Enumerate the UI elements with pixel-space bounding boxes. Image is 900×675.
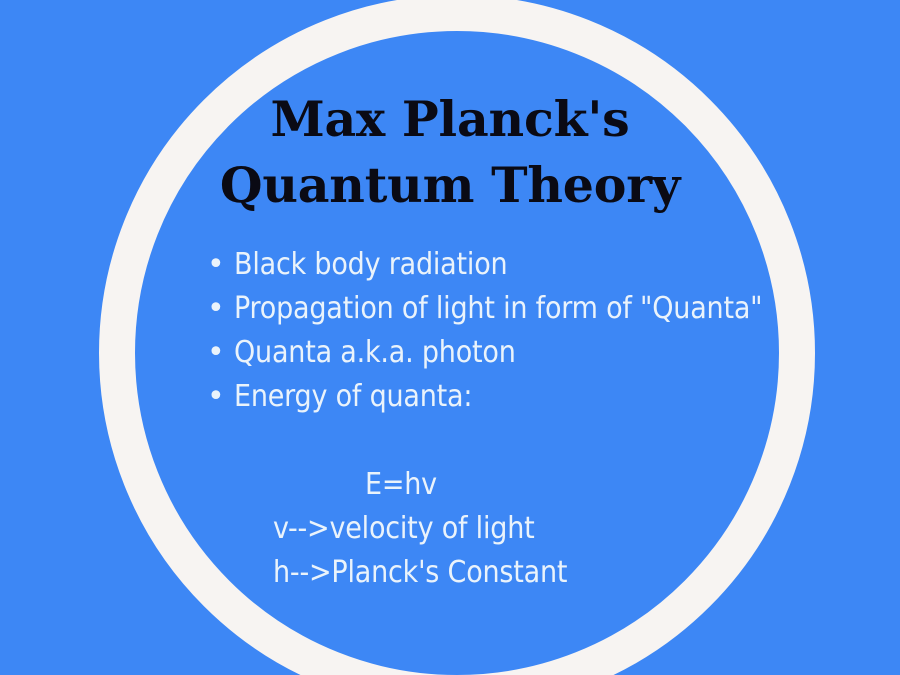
bullet-point-icon: • (207, 331, 234, 375)
list-item: • Energy of quanta: (207, 375, 767, 419)
formula-definition-planck-constant: h-->Planck's Constant (207, 551, 767, 595)
presentation-slide: Max Planck's Quantum Theory • Black body… (0, 0, 900, 675)
list-item: • Quanta a.k.a. photon (207, 331, 767, 375)
title-line-1: Max Planck's (0, 86, 900, 152)
list-item-label: Quanta a.k.a. photon (234, 331, 767, 375)
bullet-point-icon: • (207, 243, 234, 287)
slide-title: Max Planck's Quantum Theory (0, 86, 900, 218)
bullet-point-icon: • (207, 287, 234, 331)
list-item-label: Black body radiation (234, 243, 767, 287)
list-item-label: Energy of quanta: (234, 375, 767, 419)
title-line-2: Quantum Theory (0, 152, 900, 218)
list-item: • Propagation of light in form of "Quant… (207, 287, 767, 331)
bullet-point-icon: • (207, 375, 234, 419)
bullet-list: • Black body radiation • Propagation of … (207, 243, 767, 419)
formula-equation: E=hv (207, 463, 767, 507)
list-item: • Black body radiation (207, 243, 767, 287)
list-item-label: Propagation of light in form of "Quanta" (234, 287, 767, 331)
slide-content: Max Planck's Quantum Theory • Black body… (0, 0, 900, 675)
formula-block: E=hv v-->velocity of light h-->Planck's … (207, 463, 767, 595)
formula-definition-velocity: v-->velocity of light (207, 507, 767, 551)
